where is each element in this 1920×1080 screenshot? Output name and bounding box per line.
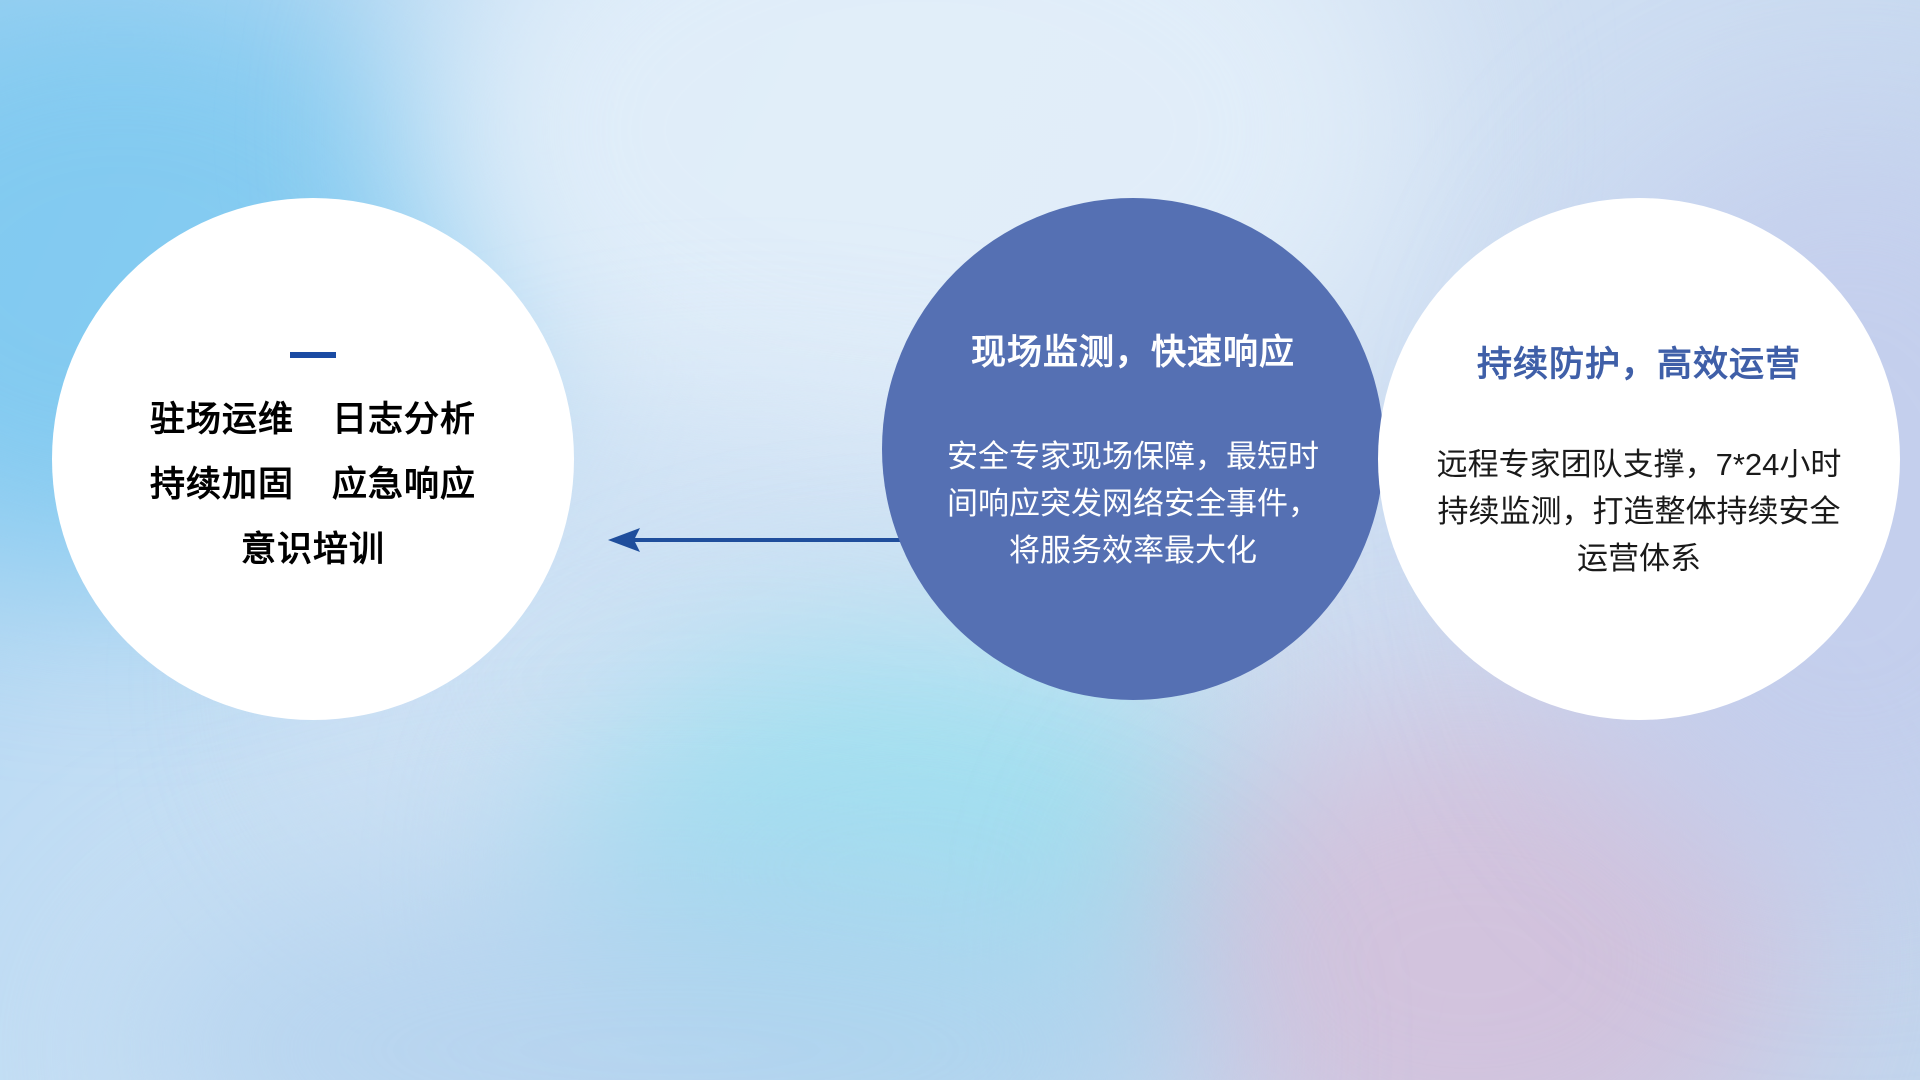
continuous-protection-body: 远程专家团队支撑，7*24小时持续监测，打造整体持续安全运营体系 <box>1429 441 1849 582</box>
onsite-monitoring-body: 安全专家现场保障，最短时间响应突发网络安全事件，将服务效率最大化 <box>943 433 1323 574</box>
background-blob-cyan-mid <box>560 640 1260 1080</box>
connector-arrow-left-icon <box>600 520 900 560</box>
divider-dash <box>290 352 336 358</box>
background-blob-blue-bottom <box>120 840 1220 1080</box>
capability-tag[interactable]: 驻场运维 <box>150 402 294 437</box>
capability-tag[interactable]: 持续加固 <box>150 467 294 502</box>
capability-row: 驻场运维 日志分析 <box>150 402 476 437</box>
onsite-monitoring-title: 现场监测，快速响应 <box>971 324 1295 375</box>
capability-row: 持续加固 应急响应 <box>150 467 476 502</box>
continuous-protection-title: 持续防护，高效运营 <box>1477 336 1801 387</box>
slide-canvas: 驻场运维 日志分析 持续加固 应急响应 意识培训 现场监测，快速响应 安全专家现… <box>0 0 1920 1080</box>
onsite-monitoring-circle[interactable]: 现场监测，快速响应 安全专家现场保障，最短时间响应突发网络安全事件，将服务效率最… <box>882 198 1384 700</box>
continuous-protection-circle[interactable]: 持续防护，高效运营 远程专家团队支撑，7*24小时持续监测，打造整体持续安全运营… <box>1378 198 1900 720</box>
capabilities-circle[interactable]: 驻场运维 日志分析 持续加固 应急响应 意识培训 <box>52 198 574 720</box>
background-blob-pink <box>1140 700 1800 1080</box>
capability-row: 意识培训 <box>241 532 385 567</box>
capability-tag[interactable]: 日志分析 <box>332 402 476 437</box>
capability-tag[interactable]: 意识培训 <box>241 532 385 567</box>
capability-tag[interactable]: 应急响应 <box>332 467 476 502</box>
